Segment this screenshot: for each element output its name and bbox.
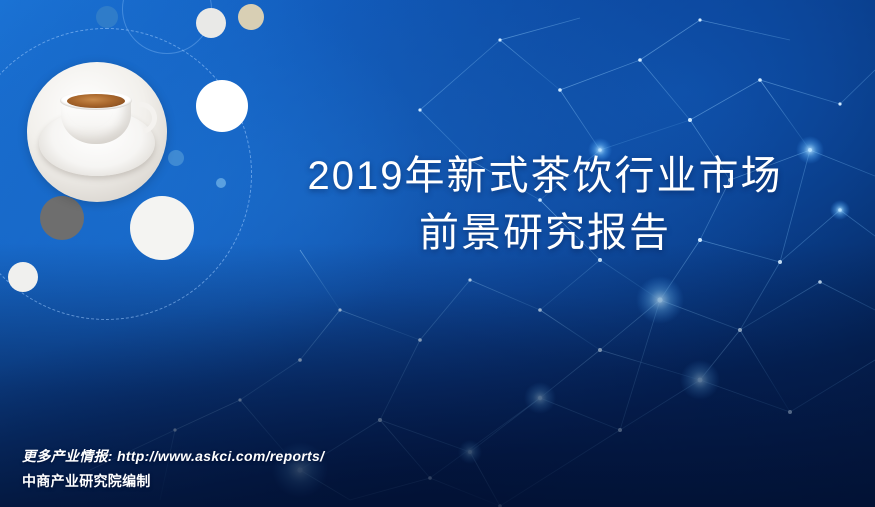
decor-circle-white-3 <box>8 262 38 292</box>
footer-credit: 更多产业情报: http://www.askci.com/reports/ 中商… <box>22 444 324 493</box>
decor-circle-white-4 <box>196 8 226 38</box>
coffee-cup-photo <box>27 62 167 202</box>
footer-publisher: 中商产业研究院编制 <box>22 469 324 494</box>
slide-title-line-2: 前景研究报告 <box>245 205 845 262</box>
decor-circle-blue-3 <box>216 178 226 188</box>
presentation-cover-slide: 2019年新式茶饮行业市场 前景研究报告 更多产业情报: http://www.… <box>0 0 875 507</box>
footer-source-url: 更多产业情报: http://www.askci.com/reports/ <box>22 444 324 469</box>
decor-circle-blue-2 <box>168 150 184 166</box>
coffee-liquid-shape <box>67 94 125 108</box>
decor-circle-beige <box>238 4 264 30</box>
decor-circle-white-1 <box>196 80 248 132</box>
slide-title-line-1: 2019年新式茶饮行业市场 <box>245 148 845 205</box>
slide-title: 2019年新式茶饮行业市场 前景研究报告 <box>245 148 845 262</box>
decor-circle-white-2 <box>130 196 194 260</box>
decor-circle-gray <box>40 196 84 240</box>
decor-circle-blue-1 <box>96 6 118 28</box>
